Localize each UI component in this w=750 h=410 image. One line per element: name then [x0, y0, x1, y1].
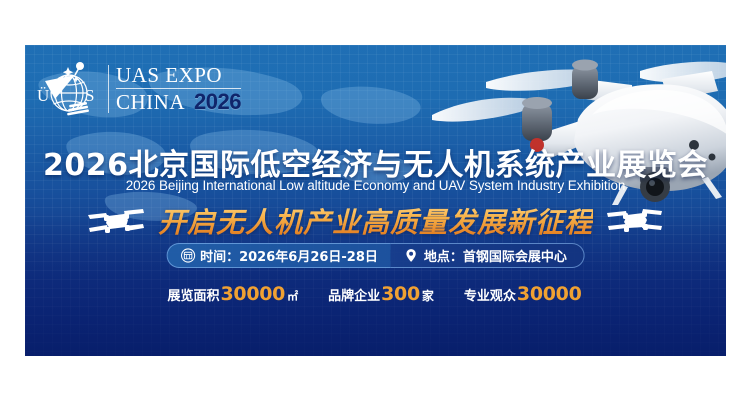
slogan-text: 开启无人机产业高质量发展新征程 [158, 201, 593, 241]
logo-wordmark: UAS EXPO CHINA 2026 [116, 65, 241, 113]
stat-item: 专业观众 30000 [464, 283, 584, 305]
logo-divider [108, 65, 109, 113]
slogan-row: 开启无人机产业高质量发展新征程 [25, 200, 726, 242]
event-info-bar: 时间：2026年6月26日-28日 地点：首钢国际会展中心 [166, 243, 585, 268]
stat-value: 300 [380, 283, 421, 305]
drone-icon [86, 206, 146, 236]
drone-icon [605, 206, 665, 236]
event-venue-segment: 地点：首钢国际会展中心 [391, 243, 585, 268]
logo-line-china: CHINA [116, 92, 185, 113]
event-venue-label: 地点：首钢国际会展中心 [424, 246, 567, 265]
exhibition-banner: Ü S UAS EXPO CHINA 2026 2026北京国际低空经济与无人机… [25, 45, 726, 356]
stat-unit: 家 [421, 287, 434, 304]
stat-label: 展览面积 [167, 285, 219, 304]
uas-globe-satellite-icon: Ü S [35, 59, 101, 119]
calendar-icon [180, 248, 195, 263]
stat-item: 品牌企业 300 家 [328, 283, 434, 305]
stats-row: 展览面积 30000 ㎡ 品牌企业 300 家 专业观众 30000 [25, 283, 726, 305]
event-date-segment: 时间：2026年6月26日-28日 [166, 243, 391, 268]
uas-expo-logo: Ü S UAS EXPO CHINA 2026 [35, 59, 241, 119]
logo-year: 2026 [194, 91, 241, 113]
stat-label: 品牌企业 [328, 285, 380, 304]
event-date-label: 时间：2026年6月26日-28日 [200, 246, 378, 265]
svg-text:Ü: Ü [37, 86, 49, 105]
location-pin-icon [404, 248, 419, 263]
stat-label: 专业观众 [464, 285, 516, 304]
logo-line-uas-expo: UAS EXPO [116, 65, 241, 89]
stat-value: 30000 [516, 283, 583, 305]
svg-text:S: S [85, 86, 94, 105]
headline-english: 2026 Beijing International Low altitude … [25, 178, 726, 193]
stat-unit: ㎡ [286, 288, 298, 304]
stat-value: 30000 [219, 283, 286, 305]
stat-item: 展览面积 30000 ㎡ [167, 283, 298, 305]
